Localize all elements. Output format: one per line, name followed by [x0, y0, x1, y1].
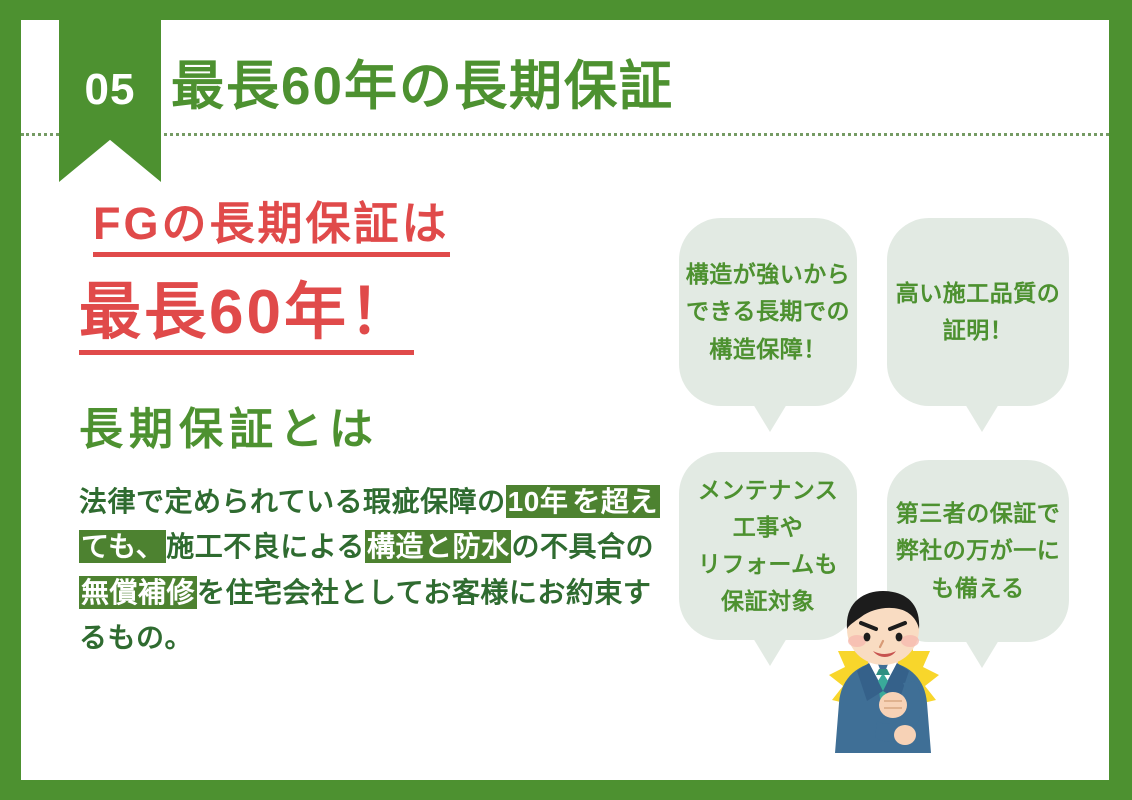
- sub-heading: 長期保証とは: [79, 393, 659, 457]
- lead-line-1: FGの長期保証は: [93, 198, 450, 257]
- cheek-left: [848, 635, 866, 647]
- bubble-structure-warranty-text: 構造が強いから できる長期での 構造保障！: [686, 256, 851, 368]
- bubble-tail-icon: [753, 404, 787, 432]
- eye-right: [896, 633, 903, 642]
- header-divider: [21, 133, 1109, 136]
- confident-businessman-illustration: [789, 585, 979, 781]
- body-highlight-structure-waterproof: 構造と防水: [365, 530, 512, 563]
- body-line3-plain-b: を住宅会社として: [197, 577, 423, 608]
- body-line2-plain: 施工不良による: [166, 531, 365, 562]
- fist-shape: [879, 692, 907, 718]
- lead-line-2: 最長60年！: [79, 277, 414, 355]
- bubble-tail-icon: [753, 638, 787, 666]
- slide-canvas: 05 最長60年の長期保証 FGの長期保証は 最長60年！ 長期保証とは 法律で…: [21, 20, 1109, 780]
- section-number-label: 05: [59, 68, 161, 112]
- body-highlight-10-years: 10年: [506, 485, 571, 518]
- bubble-tail-icon: [965, 404, 999, 432]
- cheek-right: [901, 635, 919, 647]
- eye-left: [864, 633, 871, 642]
- slide-root: 05 最長60年の長期保証 FGの長期保証は 最長60年！ 長期保証とは 法律で…: [0, 0, 1132, 800]
- body-line1-plain: 法律で定められている瑕疵保障の: [79, 486, 506, 517]
- body-highlight-free-repair: 無償補修: [79, 576, 197, 609]
- hand-shape: [894, 725, 916, 745]
- bubble-quality-proof: 高い施工品質の 証明！: [887, 218, 1069, 406]
- bubble-quality-proof-text: 高い施工品質の 証明！: [896, 275, 1061, 350]
- lead-line-1-wrap: FGの長期保証は: [79, 198, 659, 257]
- section-number-ribbon: 05: [59, 20, 161, 182]
- lead-line-2-wrap: 最長60年！: [79, 277, 659, 355]
- left-content-column: FGの長期保証は 最長60年！ 長期保証とは 法律で定められている瑕疵保障の10…: [79, 198, 659, 660]
- bubble-structure-warranty: 構造が強いから できる長期での 構造保障！: [679, 218, 857, 406]
- page-title: 最長60年の長期保証: [171, 58, 674, 116]
- body-paragraph: 法律で定められている瑕疵保障の10年を超えても、施工不良による構造と防水の不具合…: [79, 479, 659, 660]
- body-line3-plain-a: の不具合の: [511, 531, 654, 562]
